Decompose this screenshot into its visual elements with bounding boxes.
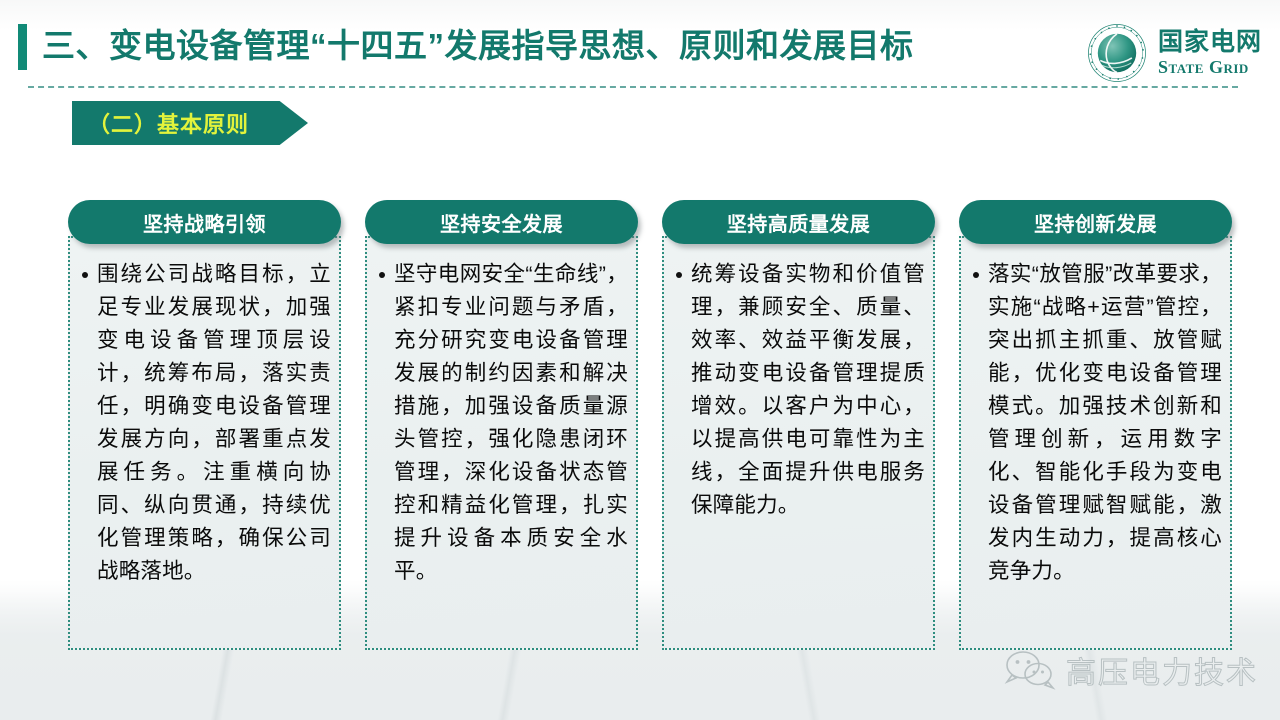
- title-accent-bar: [18, 24, 27, 70]
- principle-card: 坚持安全发展 坚守电网安全“生命线”，紧扣专业问题与矛盾，充分研究变电设备管理发…: [365, 200, 638, 650]
- card-content: 落实“放管服”改革要求，实施“战略+运营”管控，突出抓主抓重、放管赋能，优化变电…: [959, 258, 1232, 646]
- card-header-pill: 坚持战略引领: [68, 200, 341, 244]
- page-title: 三、变电设备管理“十四五”发展指导思想、原则和发展目标: [42, 17, 914, 75]
- card-body-text: 统筹设备实物和价值管理，兼顾安全、质量、效率、效益平衡发展，推动变电设备管理提质…: [691, 258, 925, 522]
- logo-text-en: State Grid: [1158, 58, 1262, 76]
- watermark-text: 高压电力技术: [1066, 648, 1258, 692]
- card-header-pill: 坚持高质量发展: [662, 200, 935, 244]
- header-divider: [28, 86, 1238, 88]
- watermark: 高压电力技术: [1004, 648, 1258, 692]
- bullet-icon: [379, 272, 385, 278]
- state-grid-logo: 国家电网 State Grid: [1086, 22, 1262, 84]
- card-title: 坚持创新发展: [1034, 208, 1157, 237]
- principle-card: 坚持高质量发展 统筹设备实物和价值管理，兼顾安全、质量、效率、效益平衡发展，推动…: [662, 200, 935, 650]
- card-title: 坚持高质量发展: [727, 208, 871, 237]
- card-header-pill: 坚持安全发展: [365, 200, 638, 244]
- card-title: 坚持战略引领: [143, 208, 266, 237]
- principle-card-row: 坚持战略引领 围绕公司战略目标，立足专业发展现状，加强变电设备管理顶层设计，统筹…: [68, 200, 1232, 650]
- card-body-text: 围绕公司战略目标，立足专业发展现状，加强变电设备管理顶层设计，统筹布局，落实责任…: [97, 258, 331, 588]
- card-body-text: 落实“放管服”改革要求，实施“战略+运营”管控，突出抓主抓重、放管赋能，优化变电…: [988, 258, 1222, 588]
- section-banner: （二）基本原则: [72, 101, 308, 145]
- principle-card: 坚持战略引领 围绕公司战略目标，立足专业发展现状，加强变电设备管理顶层设计，统筹…: [68, 200, 341, 650]
- logo-text-cn: 国家电网: [1158, 30, 1262, 55]
- bullet-icon: [973, 272, 979, 278]
- bullet-icon: [82, 272, 88, 278]
- wechat-icon: [1004, 650, 1056, 690]
- principle-card: 坚持创新发展 落实“放管服”改革要求，实施“战略+运营”管控，突出抓主抓重、放管…: [959, 200, 1232, 650]
- slide-root: 三、变电设备管理“十四五”发展指导思想、原则和发展目标: [0, 0, 1280, 720]
- bullet-icon: [676, 272, 682, 278]
- card-content: 坚守电网安全“生命线”，紧扣专业问题与矛盾，充分研究变电设备管理发展的制约因素和…: [365, 258, 638, 646]
- card-title: 坚持安全发展: [440, 208, 563, 237]
- state-grid-globe-icon: [1086, 22, 1148, 84]
- card-body-text: 坚守电网安全“生命线”，紧扣专业问题与矛盾，充分研究变电设备管理发展的制约因素和…: [394, 258, 628, 588]
- card-content: 围绕公司战略目标，立足专业发展现状，加强变电设备管理顶层设计，统筹布局，落实责任…: [68, 258, 341, 646]
- card-header-pill: 坚持创新发展: [959, 200, 1232, 244]
- card-content: 统筹设备实物和价值管理，兼顾安全、质量、效率、效益平衡发展，推动变电设备管理提质…: [662, 258, 935, 646]
- logo-wordmark: 国家电网 State Grid: [1158, 30, 1262, 76]
- section-banner-label: （二）基本原则: [72, 107, 249, 139]
